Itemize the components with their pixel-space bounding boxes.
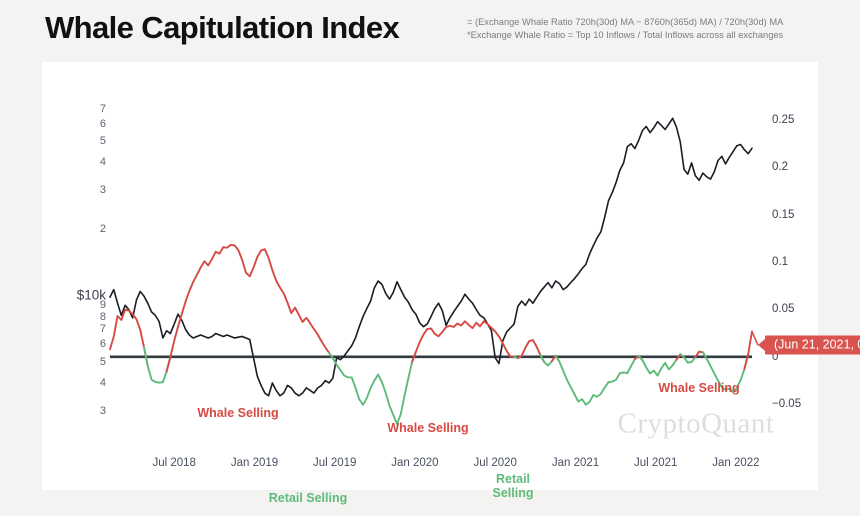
annotation-line: Selling (493, 486, 534, 500)
cryptoquant-watermark: CryptoQuant (618, 408, 775, 441)
whale-index-series (110, 245, 752, 424)
annotation-line: Whale Selling (197, 406, 278, 420)
annotation-line: Whale Selling (387, 421, 468, 435)
annotation-line: Retail (493, 472, 534, 486)
annotation-whale-selling-3: Whale Selling (658, 381, 739, 395)
annotation-whale-selling-2: Whale Selling (387, 421, 468, 435)
data-point-tooltip[interactable]: (Jun 21, 2021, 0.02675292) (765, 336, 860, 355)
header: Whale Capitulation Index = (Exchange Wha… (0, 0, 860, 62)
annotation-line: Whale Selling (658, 381, 739, 395)
tooltip-arrow-icon (758, 339, 765, 351)
price-line-series (110, 118, 752, 395)
formula-line-2: *Exchange Whale Ratio = Top 10 Inflows /… (467, 29, 837, 42)
annotation-retail-selling-1: Retail Selling (269, 491, 348, 505)
annotation-line: Retail Selling (269, 491, 348, 505)
formula-line-1: = (Exchange Whale Ratio 720h(30d) MA − 8… (467, 16, 837, 29)
chart-screenshot: Whale Capitulation Index = (Exchange Wha… (0, 0, 860, 516)
formula-subtitle: = (Exchange Whale Ratio 720h(30d) MA − 8… (467, 16, 837, 42)
chart-card: $10k3456789234567−0.0500.050.10.150.20.2… (42, 62, 818, 490)
annotation-whale-selling-1: Whale Selling (197, 406, 278, 420)
page-title: Whale Capitulation Index (45, 10, 399, 46)
annotation-retail-selling-2: RetailSelling (493, 472, 534, 500)
